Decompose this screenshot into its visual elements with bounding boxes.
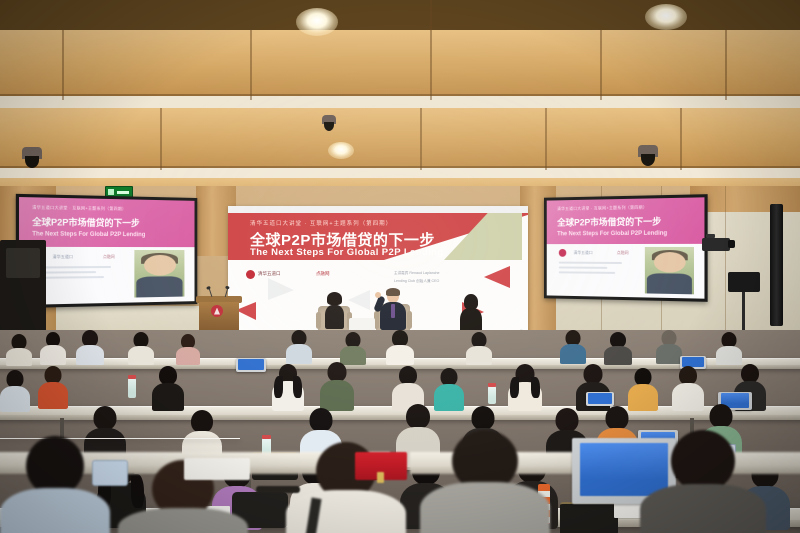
slide-logo-text: 清华五道口 (574, 250, 593, 256)
water-bottle (488, 386, 496, 404)
left-av-rack (0, 240, 46, 336)
slide-title-en: The Next Steps For Global P2P Lending (557, 230, 667, 237)
audience-member (628, 368, 658, 410)
audience-member (152, 366, 184, 410)
audience-member (40, 332, 66, 364)
slide-header-band: 清华五道口大讲堂 · 互联网+主题系列（第四期） 全球P2P市场借贷的下一步 T… (547, 197, 705, 244)
laptop (586, 392, 614, 406)
backdrop-title-en: The Next Steps For Global P2P Lending (250, 247, 444, 258)
water-bottle (128, 378, 136, 398)
slide-body: 清华五道口 点融网 (547, 244, 705, 299)
audience-member (340, 332, 366, 364)
audience-member (38, 366, 68, 408)
ceiling-baffle (0, 30, 800, 98)
slide-title-cn: 全球P2P市场借贷的下一步 (32, 215, 139, 229)
audience-member (0, 370, 30, 410)
university-emblem-icon (211, 305, 223, 317)
speaker-portrait (134, 250, 184, 298)
audience-member (508, 364, 542, 410)
paper-sheet-foreground (184, 458, 250, 480)
audience-member-foreground (420, 430, 550, 533)
ceiling-downlight (328, 142, 354, 159)
audience-member (76, 330, 104, 364)
confidence-monitor (728, 272, 760, 292)
ceiling-downlight (296, 8, 338, 36)
backdrop-credit-line-1: 主讲嘉宾 Renaud Laplanche (394, 270, 440, 276)
red-handbag (355, 452, 407, 480)
audience-member (128, 332, 154, 364)
speaker-portrait (645, 247, 694, 294)
slide-header-band: 清华五道口大讲堂 · 互联网+主题系列（第四期） 全球P2P市场借贷的下一步 T… (19, 197, 195, 247)
audience-member (176, 334, 200, 364)
conference-hall-photo: 清华五道口大讲堂 · 互联网+主题系列（第四期） 全球P2P市场借贷的下一步 T… (0, 0, 800, 533)
ceiling-downlight (645, 4, 687, 30)
slide-logo-text-2: 点融网 (103, 254, 115, 260)
necktie (391, 304, 395, 318)
audience-member (656, 330, 682, 364)
chair-back (560, 502, 618, 533)
audience-member (286, 330, 312, 364)
slide-text-lines (559, 262, 630, 277)
audience-member (386, 330, 414, 364)
dome-camera-icon (22, 147, 42, 167)
backdrop-subtitle: 清华五道口大讲堂 · 互联网+主题系列（第四期） (250, 219, 392, 227)
audience-member (604, 332, 632, 364)
backdrop-credit-line-2: Lending Club 创始人兼 CEO (394, 278, 439, 284)
slide-title-en: The Next Steps For Global P2P Lending (32, 232, 145, 239)
ceiling-assembly (0, 0, 800, 200)
audience-member (716, 332, 742, 364)
audience-member (272, 364, 304, 410)
slide-subtitle: 清华五道口大讲堂 · 互联网+主题系列（第四期） (557, 205, 647, 212)
slide-subtitle: 清华五道口大讲堂 · 互联网+主题系列（第四期） (32, 204, 126, 212)
slide-title-cn: 全球P2P市场借贷的下一步 (557, 215, 661, 229)
slide-logo-icon (559, 249, 566, 257)
backdrop-triangle (484, 266, 510, 288)
dome-camera-icon (322, 115, 336, 130)
wall-camera-icon (702, 238, 730, 251)
line-array-speaker (770, 204, 783, 326)
pen (256, 486, 300, 493)
slide-text-lines (34, 266, 117, 282)
dome-camera-icon (638, 145, 658, 165)
slide-logo-text: 清华五道口 (53, 254, 73, 260)
audience-member (466, 332, 492, 364)
audience-member (6, 334, 32, 364)
audience-member (320, 362, 354, 410)
right-projection-screen: 清华五道口大讲堂 · 互联网+主题系列（第四期） 全球P2P市场借贷的下一步 T… (544, 194, 708, 302)
audience-member-foreground (640, 430, 766, 533)
laptop (236, 358, 266, 372)
audience-member (560, 330, 586, 364)
slide-logo-text-2: 点融网 (617, 250, 629, 256)
